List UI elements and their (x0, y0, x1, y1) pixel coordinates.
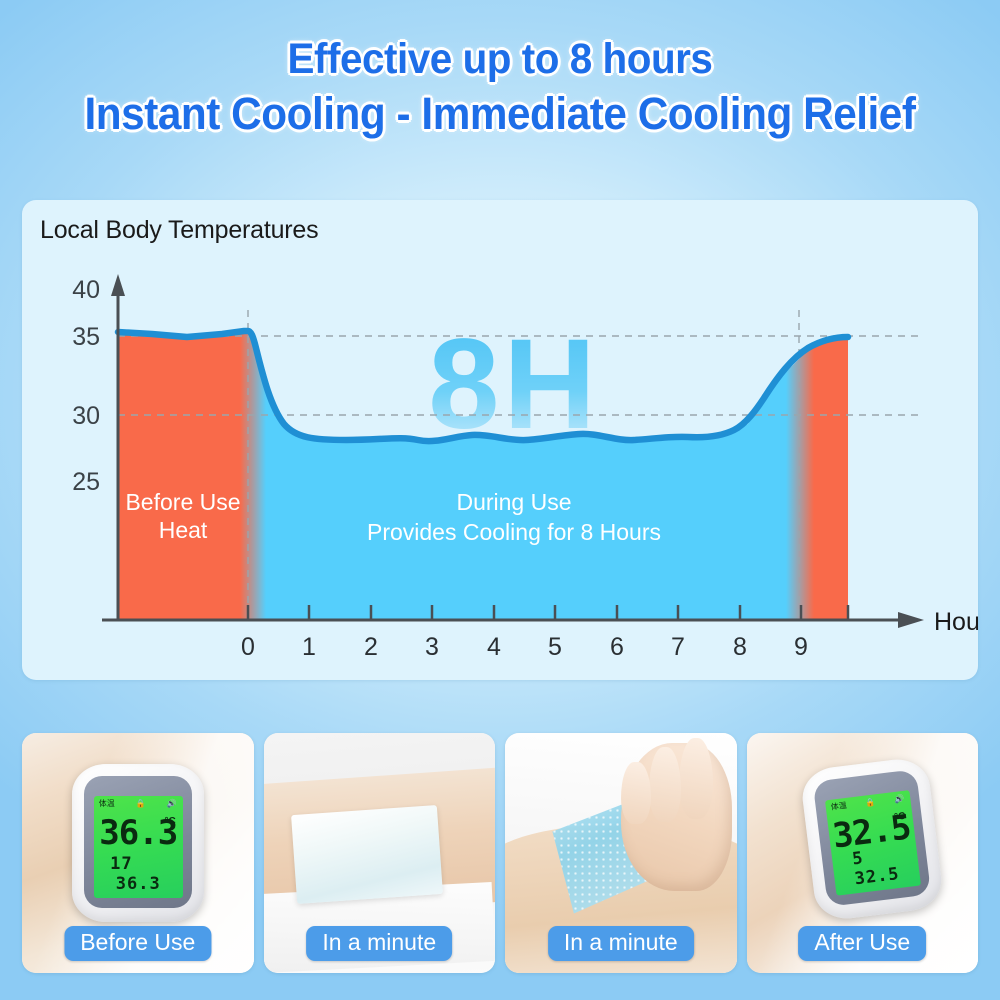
memory-index: 17 (110, 854, 132, 874)
temperature-unit: °C (165, 816, 176, 827)
photo-caption-applying-patch: In a minute (306, 926, 452, 961)
x-tick-3: 3 (425, 633, 439, 661)
photo-caption-after-use: After Use (798, 926, 926, 961)
y-axis-arrow (111, 274, 125, 296)
lock-icon: 🔒 (865, 798, 876, 807)
device-bezel: 体温 🔒 🔊 36.3 °C 17 36.3 (84, 776, 192, 908)
photo-after-use[interactable]: 体温 🔒 🔊 32.5 °C 5 32.5 Afte (747, 733, 979, 973)
x-tick-0: 0 (241, 633, 255, 661)
x-tick-7: 7 (671, 633, 685, 661)
photo-applying-patch[interactable]: In a minute (264, 733, 496, 973)
headline-secondary: Instant Cooling - Immediate Cooling Reli… (30, 91, 970, 137)
y-tick-40: 40 (72, 276, 100, 304)
x-tick-6: 6 (610, 633, 624, 661)
mode-icon: 体温 (830, 801, 847, 811)
region-before-use (112, 320, 240, 625)
zone-during-line2: Provides Cooling for 8 Hours (367, 519, 661, 545)
infrared-thermometer: 体温 🔒 🔊 36.3 °C 17 36.3 (72, 764, 204, 922)
mode-icon: 体温 (99, 800, 115, 808)
lcd-display: 体温 🔒 🔊 36.3 °C 17 36.3 (94, 796, 183, 898)
memory-index: 5 (851, 848, 865, 869)
lcd-display: 体温 🔒 🔊 32.5 °C 5 32.5 (824, 790, 920, 896)
memory-value: 36.3 (116, 874, 161, 894)
finger-3 (621, 762, 651, 824)
finger-1 (679, 738, 714, 820)
x-tick-5: 5 (548, 633, 562, 661)
photo-caption-before-use: Before Use (64, 926, 211, 961)
lock-icon: 🔒 (136, 800, 146, 808)
x-tick-4: 4 (487, 633, 501, 661)
photo-caption-peeling-gel-sheet: In a minute (548, 926, 694, 961)
cooling-patch (291, 805, 443, 904)
temperature-chart-card: Local Body Temperatures (22, 200, 978, 680)
zone-before-line1: Before Use (125, 489, 240, 515)
region-after-use (814, 320, 854, 625)
headline-primary: Effective up to 8 hours (30, 38, 970, 82)
sound-icon: 🔊 (893, 794, 904, 803)
x-tick-8: 8 (733, 633, 747, 661)
photo-before-use[interactable]: 体温 🔒 🔊 36.3 °C 17 36.3 Bef (22, 733, 254, 973)
temperature-chart: 8H 40 35 30 (22, 200, 978, 680)
finger-2 (649, 747, 681, 821)
zone-during-line1: During Use (456, 489, 571, 515)
y-tick-30: 30 (72, 402, 100, 430)
sound-icon: 🔊 (167, 800, 177, 808)
lcd-status-row: 体温 🔒 🔊 (99, 800, 177, 808)
memory-reading: 17 36.3 (94, 854, 183, 894)
x-axis-arrow (898, 612, 924, 628)
device-bezel: 体温 🔒 🔊 32.5 °C 5 32.5 (812, 769, 931, 907)
zone-before-line2: Heat (159, 517, 208, 543)
x-axis-name: Hours (934, 608, 978, 636)
photo-strip: 体温 🔒 🔊 36.3 °C 17 36.3 Bef (22, 733, 978, 973)
infrared-thermometer: 体温 🔒 🔊 32.5 °C 5 32.5 (799, 755, 945, 921)
y-tick-35: 35 (72, 323, 100, 351)
y-tick-25: 25 (72, 468, 100, 496)
page-header: Effective up to 8 hours Instant Cooling … (0, 0, 1000, 137)
photo-peeling-gel-sheet[interactable]: In a minute (505, 733, 737, 973)
x-tick-1: 1 (302, 633, 316, 661)
x-tick-9: 9 (794, 633, 808, 661)
temperature-unit: °C (893, 810, 905, 822)
x-tick-2: 2 (364, 633, 378, 661)
